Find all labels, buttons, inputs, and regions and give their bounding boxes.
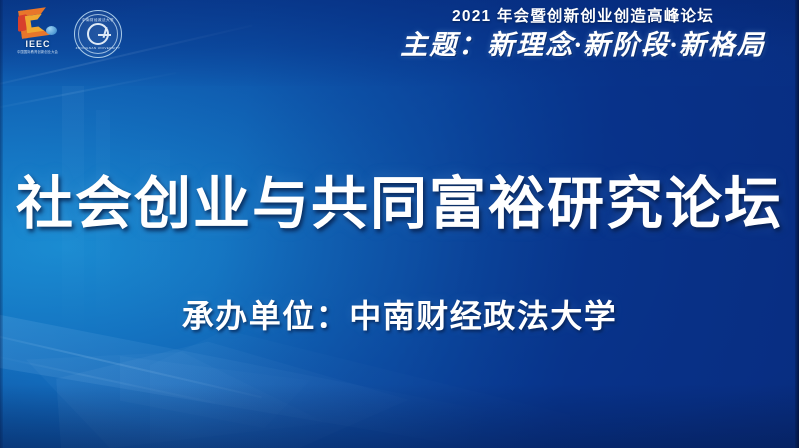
seal-arc-top-text: 中南财经政法大学 xyxy=(75,18,121,22)
ieec-caption: 中国国际教育创新创业大会 xyxy=(18,50,59,54)
header-text-block: 2021 年会暨创新创业创造高峰论坛 主题：新理念·新阶段·新格局 xyxy=(393,6,773,61)
conference-name: 2021 年会暨创新创业创造高峰论坛 xyxy=(393,6,773,28)
ieec-c-mark-icon xyxy=(18,8,58,40)
university-seal-logo: 中南财经政法大学 ZHONGNAN UNIVERSITY xyxy=(74,10,122,58)
slide-main-title: 社会创业与共同富裕研究论坛 xyxy=(0,172,799,236)
slide-subtitle-organizer: 承办单位：中南财经政法大学 xyxy=(0,296,799,336)
header-logo-row: IEEC 中国国际教育创新创业大会 中南财经政法大学 ZHONGNAN UNIV… xyxy=(14,8,122,60)
presentation-slide: IEEC 中国国际教育创新创业大会 中南财经政法大学 ZHONGNAN UNIV… xyxy=(0,0,799,448)
conference-theme: 主题：新理念·新阶段·新格局 xyxy=(393,29,773,61)
seal-g-mark-icon xyxy=(87,23,109,45)
ieec-dot-icon xyxy=(46,26,57,35)
ieec-acronym: IEEC xyxy=(25,40,50,49)
ieec-logo: IEEC 中国国际教育创新创业大会 xyxy=(14,8,62,60)
seal-arc-bottom-text: ZHONGNAN UNIVERSITY xyxy=(75,46,121,50)
